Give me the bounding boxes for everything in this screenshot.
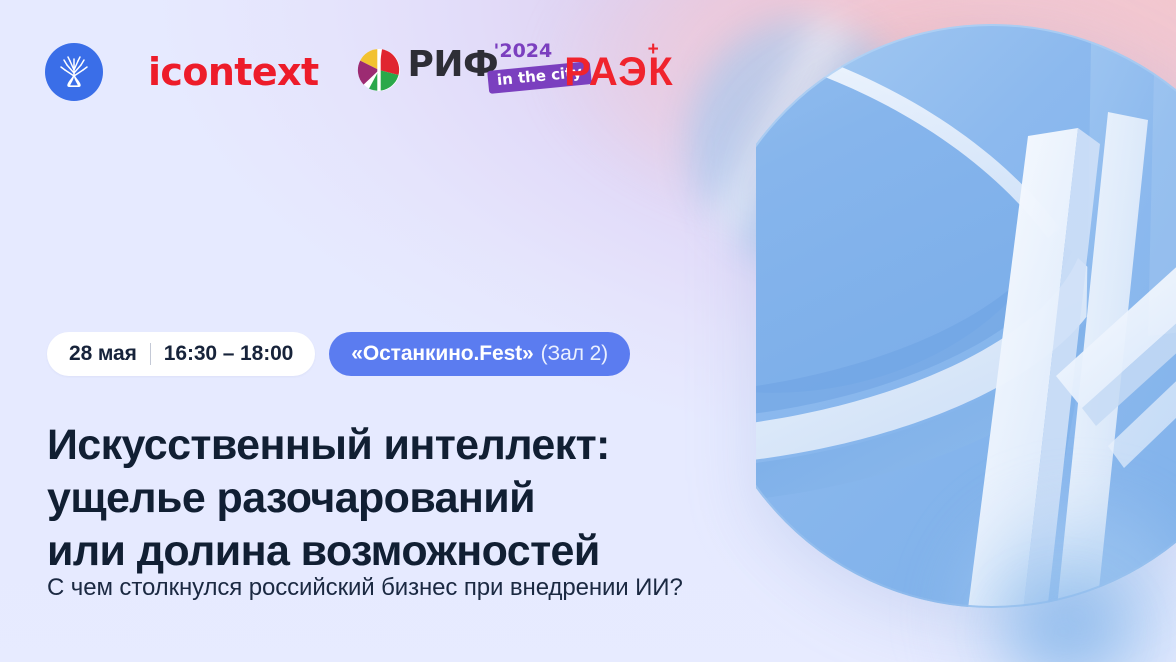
- rif-year-label: '2024: [494, 42, 553, 61]
- venue-badge: «Останкино.Fest» (Зал 2): [329, 332, 630, 376]
- headline-line-2: ущелье разочарований: [47, 472, 807, 525]
- date-time-badge: 28 мая 16:30 – 18:00: [47, 332, 315, 376]
- headline-line-3: или долина возможностей: [47, 525, 807, 578]
- tree-logo: [45, 43, 103, 101]
- event-time: 16:30 – 18:00: [164, 342, 293, 366]
- page-subtitle: С чем столкнулся российский бизнес при в…: [47, 572, 683, 603]
- rif-wordmark: РИФ: [408, 44, 499, 85]
- venue-hall: (Зал 2): [541, 342, 608, 366]
- sponsor-logo-row: icontext РИФ '2024 in the city: [45, 40, 674, 104]
- venue-name: «Останкино.Fest»: [351, 342, 533, 366]
- badge-divider: [150, 343, 151, 365]
- raec-logo: РАЭК +: [564, 52, 674, 92]
- event-date: 28 мая: [69, 342, 137, 366]
- event-meta-badges: 28 мая 16:30 – 18:00 «Останкино.Fest» (З…: [47, 332, 630, 376]
- page-title: Искусственный интеллект: ущелье разочаро…: [47, 419, 807, 578]
- icontext-logo: icontext: [148, 53, 319, 91]
- raec-plus-superscript: +: [648, 40, 661, 59]
- headline-line-1: Искусственный интеллект:: [47, 419, 807, 472]
- event-promo-banner: icontext РИФ '2024 in the city: [0, 0, 1176, 662]
- tree-icon: [54, 52, 94, 92]
- rif-logo: РИФ '2024 in the city: [357, 42, 499, 102]
- four-color-pie-icon: [357, 48, 401, 92]
